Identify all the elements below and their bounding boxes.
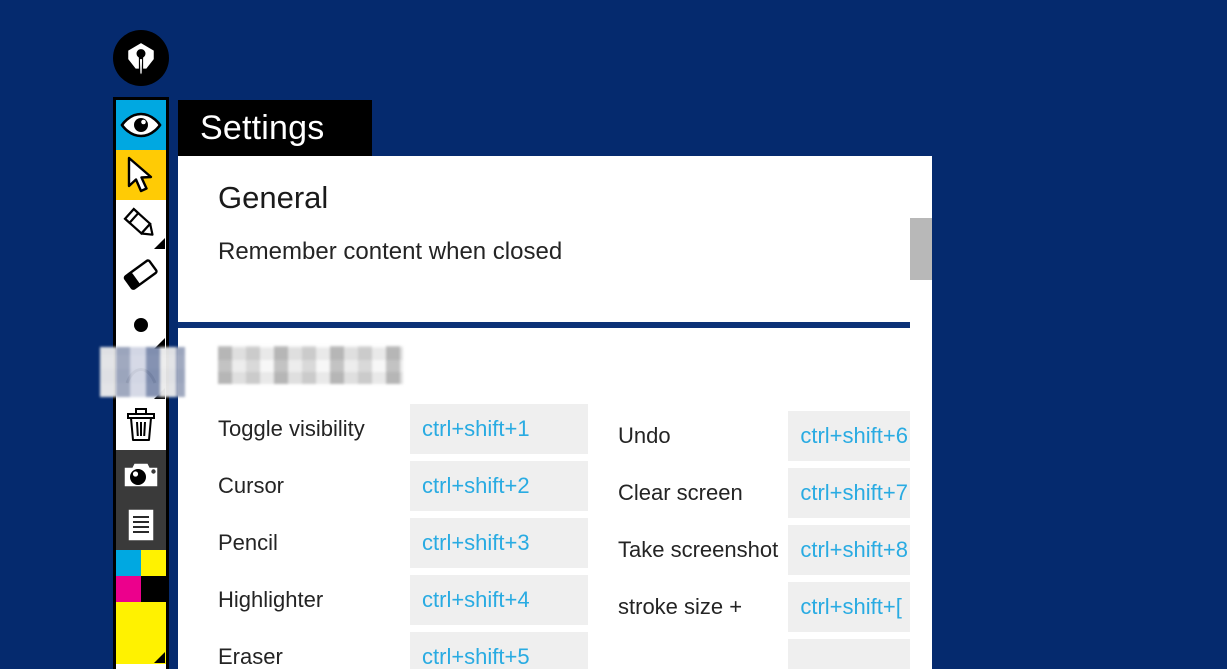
- tool-expand-corner-icon[interactable]: [154, 652, 165, 663]
- shortcut-key-input[interactable]: ctrl+shift+3: [410, 518, 588, 568]
- shortcut-row: Undo ctrl+shift+6: [618, 411, 932, 461]
- redacted-overlay: [100, 347, 185, 397]
- swatch-black[interactable]: [141, 576, 166, 602]
- shortcuts-heading-redacted: [218, 346, 403, 384]
- tool-pencil[interactable]: [116, 200, 166, 250]
- shortcut-action-label: Clear screen: [618, 480, 788, 506]
- shortcut-row: Highlighter ctrl+shift+4: [218, 575, 588, 625]
- settings-scrollbar[interactable]: [910, 156, 932, 669]
- tool-expand-corner-icon[interactable]: [154, 238, 165, 249]
- shortcut-row: Pencil ctrl+shift+3: [218, 518, 588, 568]
- shortcut-row: Cursor ctrl+shift+2: [218, 461, 588, 511]
- settings-title-bar: Settings: [178, 100, 372, 156]
- shortcut-row: [618, 639, 932, 669]
- tool-screenshot[interactable]: [116, 450, 166, 500]
- tool-highlighter[interactable]: [116, 250, 166, 300]
- swatch-magenta[interactable]: [116, 576, 141, 602]
- shortcut-row: Clear screen ctrl+shift+7: [618, 468, 932, 518]
- highlighter-icon: [121, 258, 161, 292]
- swatch-cyan[interactable]: [116, 550, 141, 576]
- swatch-yellow[interactable]: [141, 550, 166, 576]
- settings-panel: General Remember content when closed Tog…: [178, 156, 932, 669]
- shortcuts-section: Toggle visibility ctrl+shift+1 Cursor ct…: [178, 328, 932, 669]
- general-section: General Remember content when closed: [178, 156, 932, 266]
- current-color-swatch[interactable]: [116, 602, 166, 664]
- general-heading: General: [218, 180, 932, 216]
- tool-visibility[interactable]: [116, 100, 166, 150]
- trash-icon: [124, 407, 158, 443]
- camera-icon: [121, 460, 161, 490]
- dot-icon: [131, 315, 151, 335]
- shortcuts-column-left: Toggle visibility ctrl+shift+1 Cursor ct…: [218, 404, 588, 669]
- shortcut-key-input[interactable]: ctrl+shift+4: [410, 575, 588, 625]
- pen-nib-icon: [124, 41, 158, 75]
- shortcut-row: Eraser ctrl+shift+5: [218, 632, 588, 669]
- shortcut-row: stroke size + ctrl+shift+[: [618, 582, 932, 632]
- document-lines-icon: [126, 507, 156, 543]
- eye-icon: [120, 112, 162, 138]
- app-logo[interactable]: [113, 30, 169, 86]
- shortcut-key-input[interactable]: ctrl+shift+2: [410, 461, 588, 511]
- shortcut-action-label: stroke size +: [618, 594, 788, 620]
- app-window: Settings General Remember content when c…: [0, 0, 1227, 669]
- cursor-arrow-icon: [125, 156, 157, 194]
- color-palette: [116, 550, 166, 602]
- remember-content-row[interactable]: Remember content when closed: [218, 238, 932, 266]
- shortcut-key-input[interactable]: ctrl+shift+5: [410, 632, 588, 669]
- shortcut-key-input[interactable]: ctrl+shift+1: [410, 404, 588, 454]
- shortcut-row: Take screenshot ctrl+shift+8: [618, 525, 932, 575]
- tool-notes[interactable]: [116, 500, 166, 550]
- tool-cursor[interactable]: [116, 150, 166, 200]
- tool-stroke-size[interactable]: [116, 300, 166, 350]
- shortcut-action-label: Highlighter: [218, 587, 410, 613]
- shortcut-row: Toggle visibility ctrl+shift+1: [218, 404, 588, 454]
- shortcut-action-label: Pencil: [218, 530, 410, 556]
- settings-scrollbar-thumb[interactable]: [910, 218, 932, 280]
- tool-clear[interactable]: [116, 400, 166, 450]
- shortcut-action-label: Take screenshot: [618, 537, 788, 563]
- shortcut-action-label: Eraser: [218, 644, 410, 669]
- shortcut-action-label: Toggle visibility: [218, 416, 410, 442]
- remember-content-label: Remember content when closed: [218, 238, 562, 266]
- shortcut-action-label: Cursor: [218, 473, 410, 499]
- shortcuts-column-right: Undo ctrl+shift+6 Clear screen ctrl+shif…: [618, 404, 932, 669]
- desktop-background-right: [932, 0, 1227, 669]
- shortcut-action-label: Undo: [618, 423, 788, 449]
